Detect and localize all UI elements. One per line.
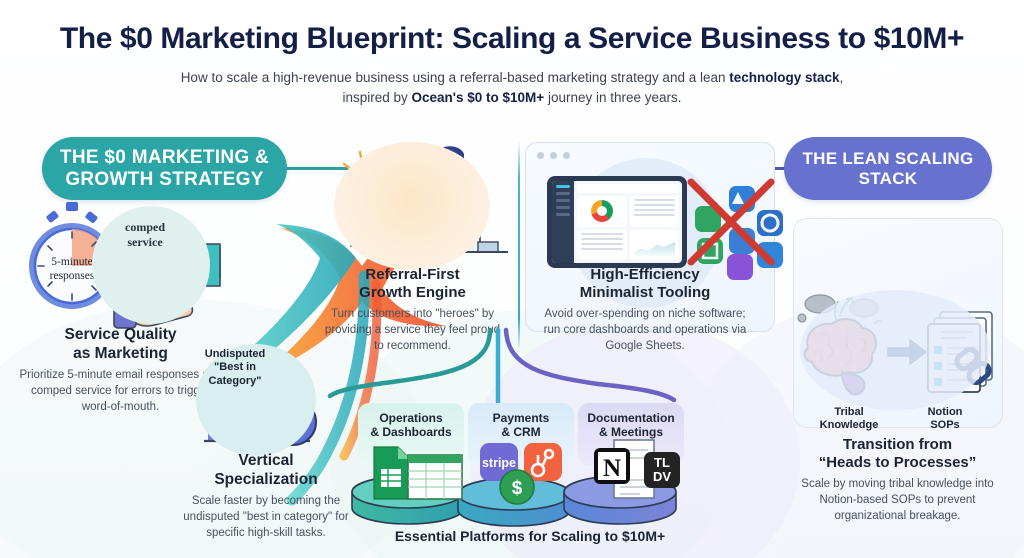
- card-heads-to-processes: Transition from “Heads to Processes” Sca…: [790, 436, 1005, 525]
- subtitle-text-3: journey in three years.: [544, 90, 681, 105]
- svg-text:N: N: [603, 455, 621, 482]
- scene-backdrop-circle: [800, 290, 990, 410]
- subtitle-bold-1: technology stack: [729, 70, 839, 85]
- tablet-sidebar: [552, 181, 574, 263]
- strikethrough-x-icon: [685, 176, 777, 268]
- subtitle-text-1: How to scale a high-revenue business usi…: [181, 70, 730, 85]
- card-heading-line1: Vertical: [238, 452, 293, 469]
- scene-tribal-knowledge: [790, 290, 1005, 410]
- card-heading-line1: Referral-First: [365, 266, 459, 283]
- card-heading: High-Efficiency Minimalist Tooling: [540, 266, 750, 302]
- svg-text:stripe: stripe: [482, 456, 516, 470]
- scene-referral-growth: Praise: [318, 140, 508, 270]
- platforms-section-title: Essential Platforms for Scaling to $10M+: [330, 528, 730, 544]
- card-heading: Referral-First Growth Engine: [320, 266, 505, 302]
- card-heading-line2: Minimalist Tooling: [580, 284, 711, 301]
- tablet-topbar: [577, 184, 679, 193]
- card-heading-line2: Growth Engine: [359, 284, 466, 301]
- scene-minimalist-tooling: [525, 142, 775, 267]
- line-chart-icon: [634, 240, 676, 256]
- platform-label-line1: Payments: [493, 411, 550, 425]
- card-heading-line2: as Marketing: [73, 345, 168, 362]
- label-notion-sops: NotionSOPs: [902, 406, 988, 433]
- label-tribal-knowledge: TribalKnowledge: [800, 406, 898, 433]
- payments-logos: stripe $: [480, 443, 566, 505]
- best-in-category-annotation: Undisputed "Best in Category": [192, 348, 278, 388]
- documentation-logos: N TL DV: [590, 440, 682, 506]
- donut-chart-icon: [591, 200, 613, 222]
- list-card: [630, 196, 680, 227]
- svg-text:$: $: [512, 478, 523, 499]
- card-heading-line2: Specialization: [214, 471, 317, 488]
- card-heading-line1: Service Quality: [64, 326, 176, 343]
- stopwatch-label-line2: responses: [50, 270, 95, 282]
- page-title: The $0 Marketing Blueprint: Scaling a Se…: [0, 22, 1024, 55]
- svg-text:DV: DV: [653, 469, 671, 484]
- window-traffic-lights: [537, 152, 570, 159]
- sparkline-card: [630, 230, 680, 261]
- card-heading-line2: “Heads to Processes”: [819, 454, 977, 471]
- dashboard-tablet: [547, 176, 687, 268]
- comped-service-annotation: comped service: [106, 220, 184, 249]
- header: The $0 Marketing Blueprint: Scaling a Se…: [0, 22, 1024, 109]
- page-subtitle: How to scale a high-revenue business usi…: [162, 68, 862, 109]
- annotation-line2: "Best in: [214, 361, 256, 373]
- card-heading: Vertical Specialization: [172, 452, 360, 489]
- stopwatch-label-line1: 5-minute: [51, 256, 93, 268]
- operations-logos: [370, 445, 465, 503]
- card-heading-line1: Transition from: [843, 436, 952, 453]
- card-body: Scale by moving tribal knowledge into No…: [790, 477, 1005, 525]
- scene-backdrop-circle: [334, 142, 490, 270]
- annotation-line1: Undisputed: [205, 348, 266, 360]
- donut-chart-card: [577, 196, 627, 227]
- section-pill-lean-stack[interactable]: THE LEAN SCALING STACK: [784, 137, 992, 200]
- annotation-line3: Category": [209, 375, 262, 387]
- svg-text:TL: TL: [654, 455, 670, 470]
- subtitle-bold-2: Ocean's $0 to $10M+: [412, 90, 545, 105]
- list-card-2: [577, 230, 627, 261]
- card-heading-line1: High-Efficiency: [590, 266, 699, 283]
- infographic-canvas: The $0 Marketing Blueprint: Scaling a Se…: [0, 0, 1024, 558]
- card-heading: Transition from “Heads to Processes”: [790, 436, 1005, 472]
- platform-label-line1: Operations: [379, 411, 442, 425]
- platform-label-line1: Documentation: [587, 411, 674, 425]
